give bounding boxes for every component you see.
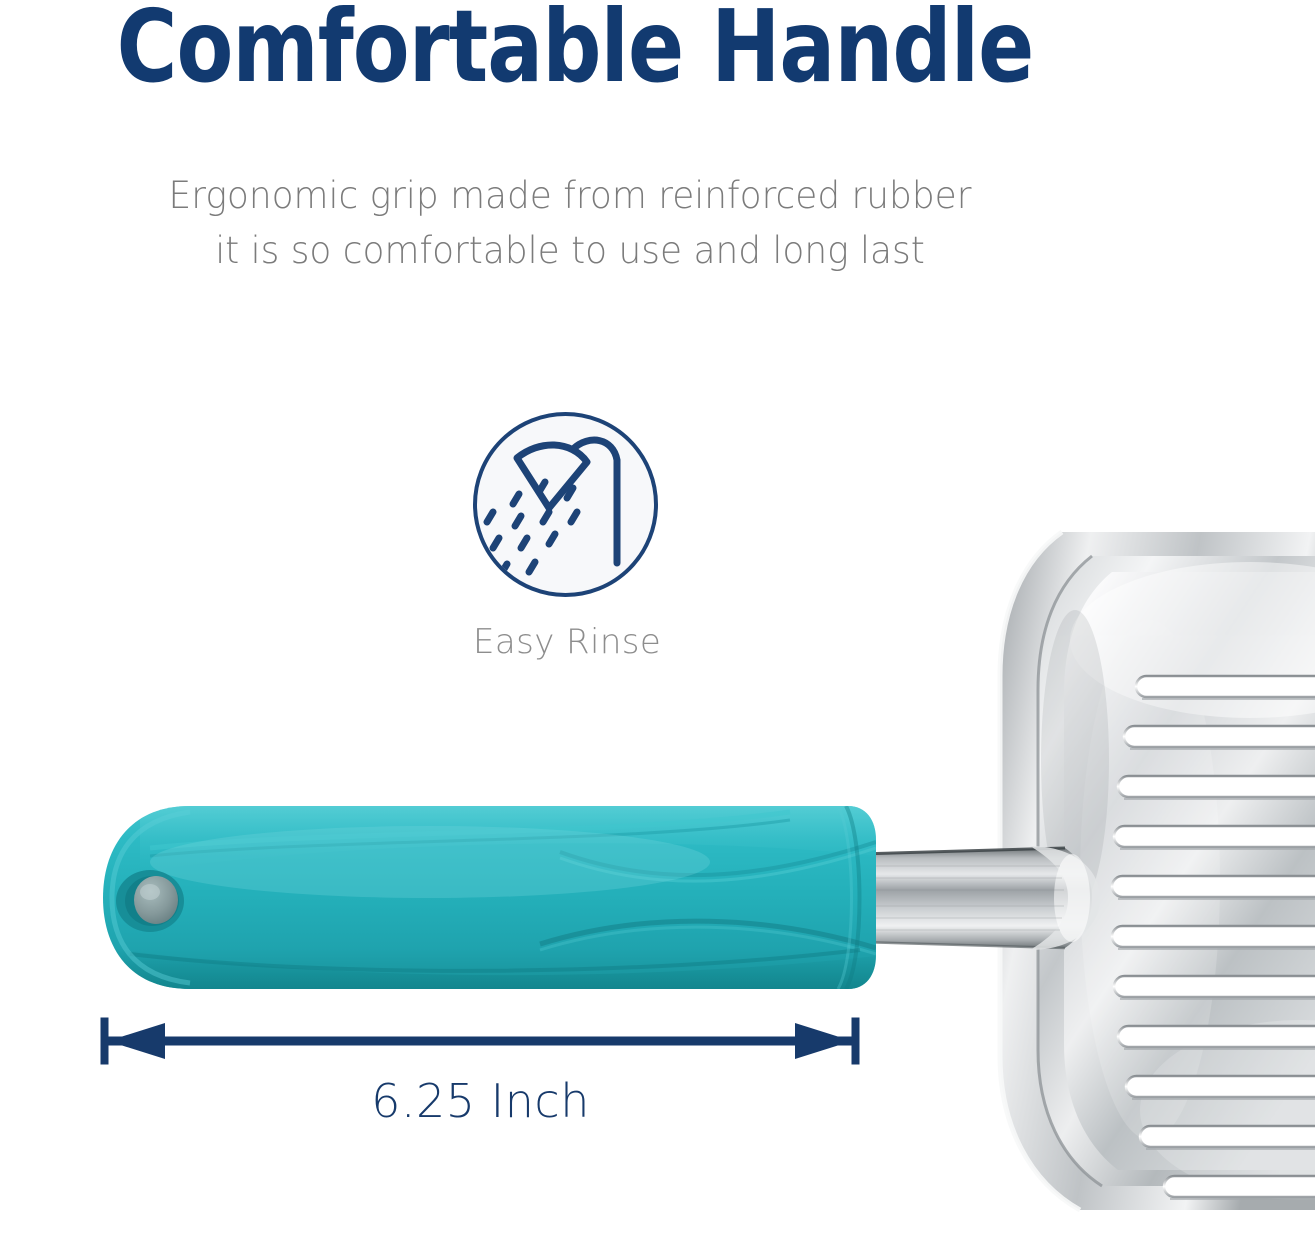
dimension-arrow [95,1012,875,1072]
dimension-tick-left [101,1018,108,1064]
handle-grip [103,806,876,989]
scoop-slots [1112,676,1315,1199]
product-feature-banner: Comfortable Handle Ergonomic grip made f… [0,0,1315,1240]
page-title: Comfortable Handle [46,0,1104,102]
feature-badge-easy-rinse: Easy Rinse [473,412,668,662]
dimension-label: 6.25 Inch [103,1074,858,1128]
hang-hole [116,870,184,932]
scoop-head [1000,532,1315,1210]
shower-rinse-icon [473,412,658,597]
metal-shaft [858,846,1100,950]
feature-label: Easy Rinse [473,622,658,662]
dimension-tick-right [852,1018,859,1064]
page-subtitle: Ergonomic grip made from reinforced rubb… [17,168,1123,278]
